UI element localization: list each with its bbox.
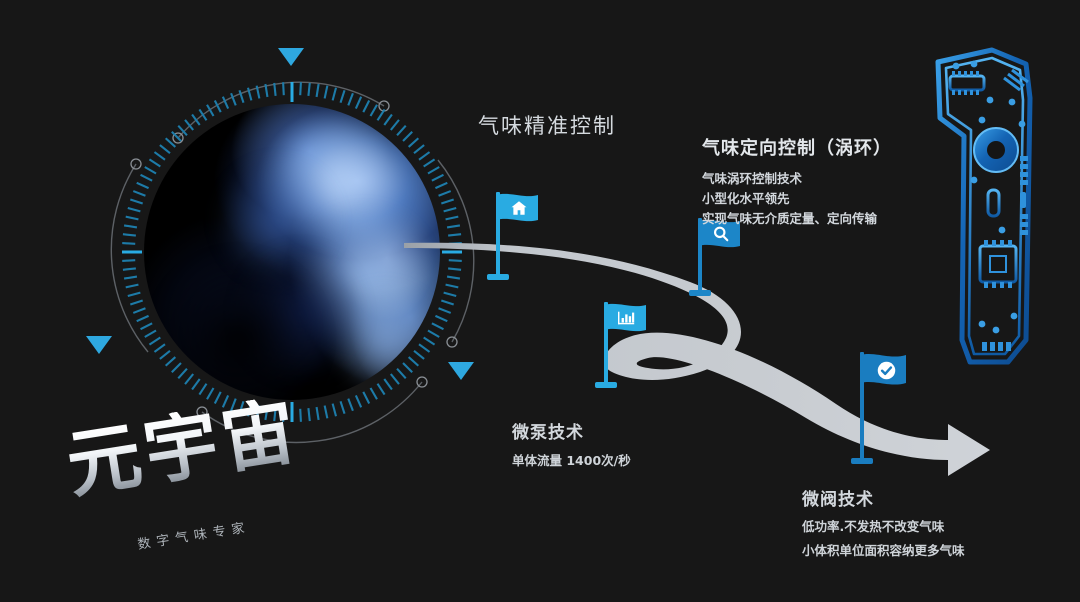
microvalve-line-1: 低功率.不发热不改变气味 — [802, 516, 944, 535]
winding-road-arrow — [0, 0, 1080, 602]
infographic-slide: 元宇宙 数字气味专家 — [0, 0, 1080, 602]
vortex-line-2: 小型化水平领先 — [702, 188, 790, 207]
bar-chart-icon — [615, 308, 639, 328]
vortex-line-3: 实现气味无介质定量、定向传输 — [702, 208, 877, 227]
flag-base — [851, 458, 873, 464]
home-icon — [508, 198, 530, 218]
micropump-section-title: 微泵技术 — [512, 418, 584, 443]
micropump-line-1: 单体流量 1400次/秒 — [512, 450, 631, 469]
vortex-line-1: 气味涡环控制技术 — [702, 168, 802, 187]
vortex-section-title: 气味定向控制（涡环） — [702, 134, 892, 160]
flag-base — [595, 382, 617, 388]
circuit-board-number-one-icon — [930, 40, 1050, 380]
check-circle-icon — [875, 359, 897, 381]
flag-base — [487, 274, 509, 280]
microvalve-section-title: 微阀技术 — [802, 485, 874, 510]
page-title: 气味精准控制 — [478, 110, 616, 140]
microvalve-line-2: 小体积单位面积容纳更多气味 — [802, 540, 965, 559]
flag-base — [689, 290, 711, 296]
